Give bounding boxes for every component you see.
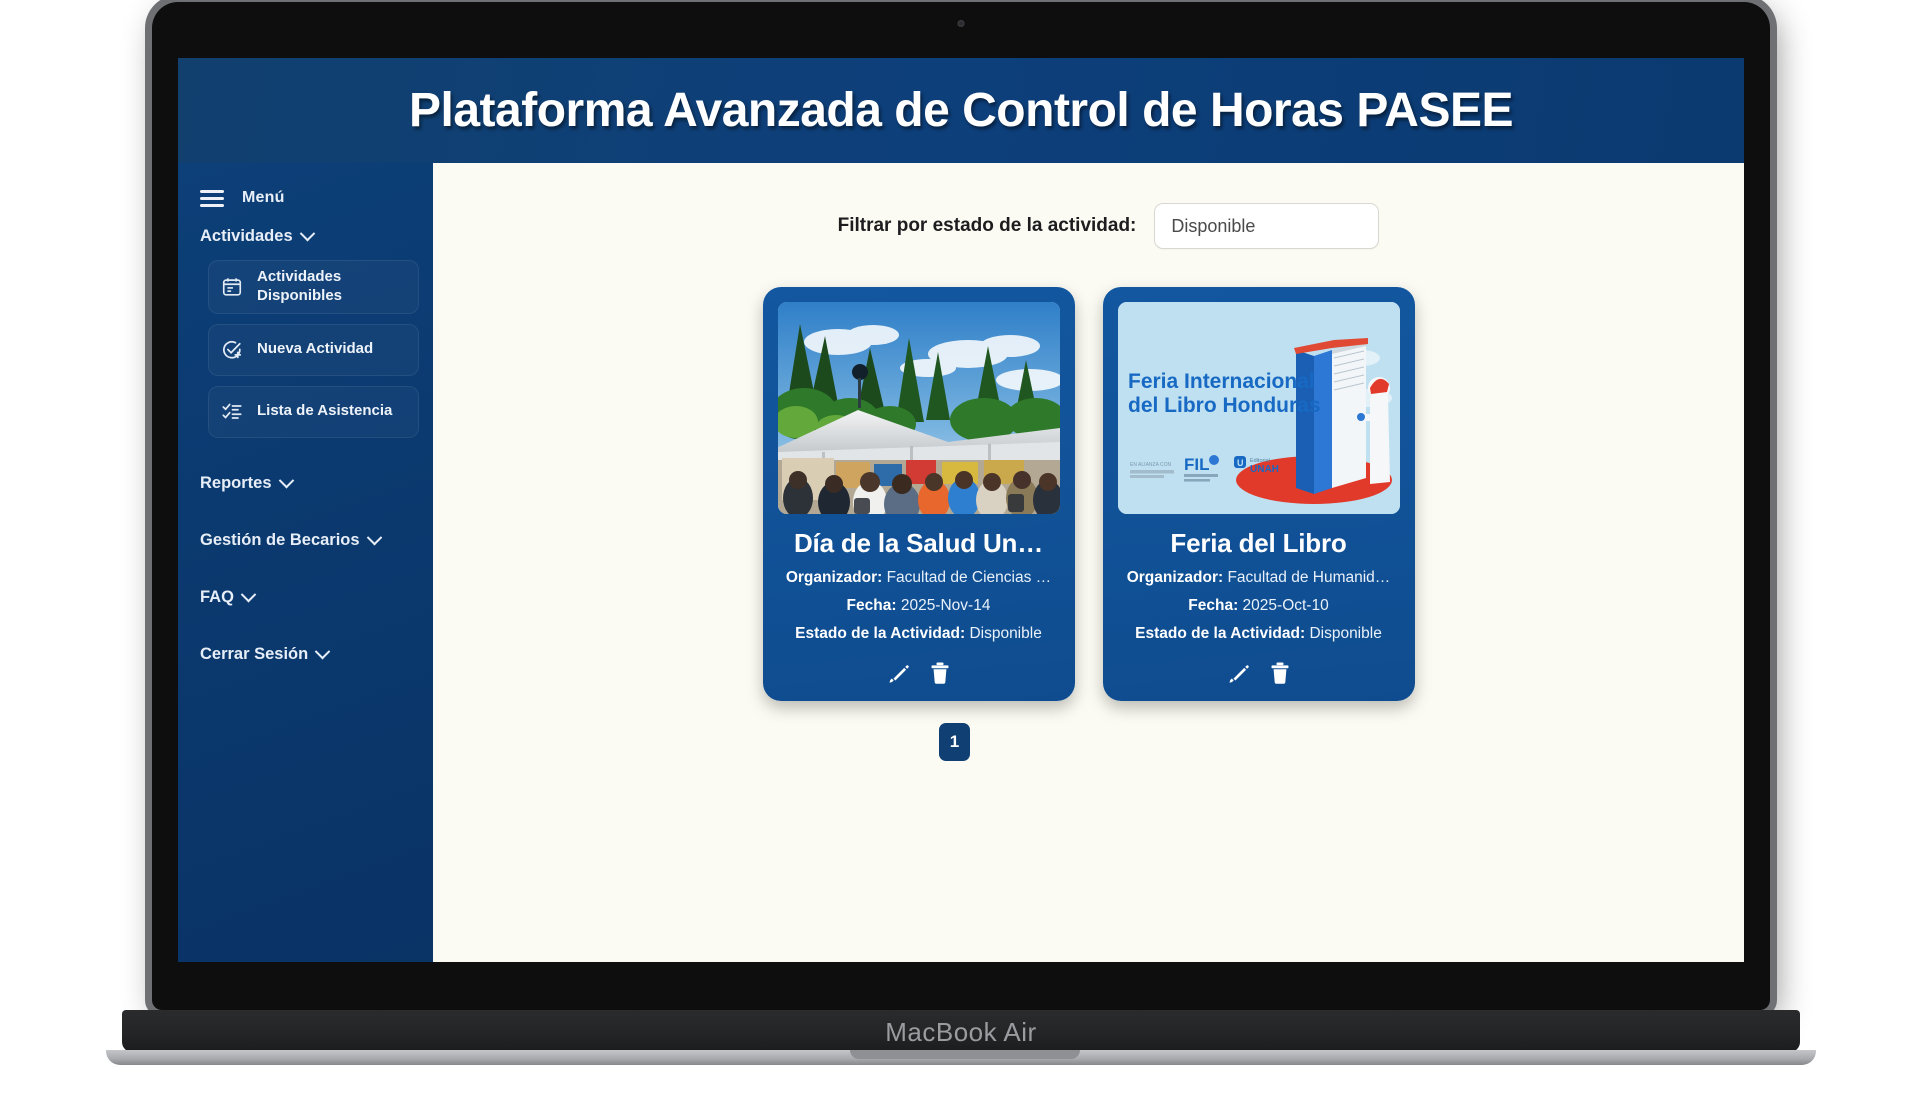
laptop-screen: Plataforma Avanzada de Control de Horas … (178, 58, 1744, 962)
chevron-down-icon (315, 643, 331, 659)
sidebar-spacer (178, 619, 433, 633)
sidebar-item-actividades-disponibles[interactable]: Actividades Disponibles (208, 260, 419, 314)
poster-line-1: Feria Internacional (1128, 370, 1315, 393)
pencil-icon[interactable] (887, 661, 911, 685)
webcam-icon (958, 20, 965, 27)
sidebar-group-gestion-becarios[interactable]: Gestión de Becarios (178, 519, 433, 562)
laptop-lid: Plataforma Avanzada de Control de Horas … (152, 2, 1770, 1010)
activity-status: Estado de la Actividad: Disponible (1135, 625, 1382, 643)
sidebar-subnav-actividades: Actividades Disponibles (178, 258, 433, 438)
activity-status-label: Estado de la Actividad: (1135, 625, 1305, 642)
sidebar-spacer (178, 505, 433, 519)
calendar-icon (221, 276, 243, 298)
sidebar: Menú Actividades (178, 163, 433, 962)
activity-status-label: Estado de la Actividad: (795, 625, 965, 642)
activity-card[interactable]: Feria Internacional del Libro Honduras E… (1103, 287, 1415, 701)
activity-date: Fecha: 2025-Nov-14 (847, 597, 991, 615)
app-body: Menú Actividades (178, 163, 1744, 962)
chevron-down-icon (299, 226, 315, 242)
laptop-notch (850, 1050, 1080, 1059)
activity-date-label: Fecha: (847, 597, 897, 614)
page-title: Plataforma Avanzada de Control de Horas … (178, 58, 1744, 163)
activity-organizer-value: Facultad de Ciencias … (887, 569, 1052, 586)
status-filter-select[interactable]: Disponible (1154, 203, 1379, 249)
filter-label: Filtrar por estado de la actividad: (838, 215, 1137, 237)
activity-status-value: Disponible (969, 625, 1041, 642)
activity-status-value: Disponible (1309, 625, 1381, 642)
trash-icon[interactable] (1269, 661, 1291, 685)
trash-icon[interactable] (929, 661, 951, 685)
sidebar-spacer (178, 562, 433, 576)
pencil-icon[interactable] (1227, 661, 1251, 685)
sidebar-item-lista-asistencia[interactable]: Lista de Asistencia (208, 386, 419, 438)
activity-title: Feria del Libro (1170, 528, 1346, 559)
sidebar-spacer (178, 448, 433, 462)
laptop-base: MacBook Air (122, 1010, 1800, 1052)
poster-line-2: del Libro Honduras (1128, 394, 1321, 417)
sidebar-item-label: Actividades Disponibles (257, 268, 408, 306)
activity-organizer: Organizador: Facultad de Ciencias … (786, 569, 1051, 587)
activity-status: Estado de la Actividad: Disponible (795, 625, 1042, 643)
sidebar-group-faq[interactable]: FAQ (178, 576, 433, 619)
activity-thumbnail-photo (778, 302, 1060, 514)
sidebar-menu-toggle[interactable]: Menú (178, 181, 433, 215)
sidebar-menu-label: Menú (242, 189, 285, 207)
activity-organizer: Organizador: Facultad de Humanid… (1127, 569, 1391, 587)
poster-logo-unah: UNAH (1250, 464, 1279, 475)
activity-title: Día de la Salud Un… (794, 528, 1043, 559)
chevron-down-icon (241, 586, 257, 602)
activity-date-label: Fecha: (1188, 597, 1238, 614)
activity-date: Fecha: 2025-Oct-10 (1188, 597, 1328, 615)
activity-date-value: 2025-Oct-10 (1243, 597, 1329, 614)
activity-date-value: 2025-Nov-14 (901, 597, 991, 614)
activity-organizer-label: Organizador: (1127, 569, 1223, 586)
sidebar-group-label: FAQ (200, 588, 234, 607)
poster-logo-fil: FIL (1184, 455, 1210, 474)
sidebar-item-label: Nueva Actividad (257, 340, 373, 359)
hamburger-icon (200, 190, 224, 207)
activity-cards-list: Día de la Salud Un… Organizador: Faculta… (433, 287, 1744, 701)
svg-text:EN ALIANZA CON: EN ALIANZA CON (1130, 462, 1172, 468)
svg-text:U: U (1237, 458, 1244, 468)
sidebar-item-nueva-actividad[interactable]: Nueva Actividad (208, 324, 419, 376)
device-model-label: MacBook Air (122, 1017, 1800, 1048)
activity-card[interactable]: Día de la Salud Un… Organizador: Faculta… (763, 287, 1075, 701)
chevron-down-icon (366, 529, 382, 545)
sidebar-group-reportes[interactable]: Reportes (178, 462, 433, 505)
sidebar-group-label: Reportes (200, 474, 272, 493)
sidebar-group-label: Gestión de Becarios (200, 531, 360, 550)
activity-organizer-label: Organizador: (786, 569, 882, 586)
main-content: Filtrar por estado de la actividad: Disp… (433, 163, 1744, 962)
sidebar-group-cerrar-sesion[interactable]: Cerrar Sesión (178, 633, 433, 676)
app-header: Plataforma Avanzada de Control de Horas … (178, 58, 1744, 163)
sidebar-group-label: Cerrar Sesión (200, 645, 308, 664)
activity-card-actions (1227, 661, 1291, 685)
activity-card-actions (887, 661, 951, 685)
checklist-icon (221, 401, 243, 423)
pagination: 1 (433, 723, 1744, 761)
sidebar-group-actividades[interactable]: Actividades (178, 215, 433, 258)
activity-thumbnail-poster: Feria Internacional del Libro Honduras E… (1118, 302, 1400, 514)
filter-row: Filtrar por estado de la actividad: Disp… (433, 203, 1744, 249)
chevron-down-icon (278, 472, 294, 488)
activity-organizer-value: Facultad de Humanid… (1227, 569, 1390, 586)
check-circle-plus-icon (221, 339, 243, 361)
sidebar-group-label: Actividades (200, 227, 293, 246)
pagination-page-1[interactable]: 1 (939, 723, 970, 761)
status-filter-value: Disponible (1171, 216, 1255, 237)
laptop-mockup: Plataforma Avanzada de Control de Horas … (152, 0, 1777, 1103)
sidebar-item-label: Lista de Asistencia (257, 402, 392, 421)
